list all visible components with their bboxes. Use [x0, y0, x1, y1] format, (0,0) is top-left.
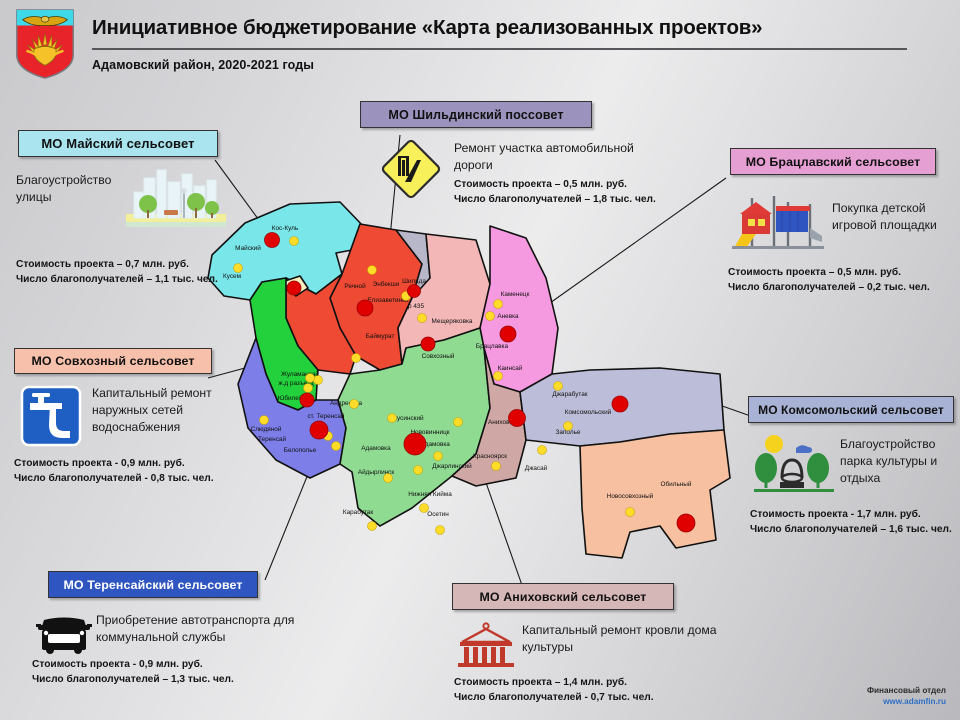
svg-text:Слюдяной: Слюдяной [251, 425, 282, 433]
project-cost: Стоимость проекта – 0,7 млн. руб. [16, 258, 248, 273]
project-cost: Стоимость проекта - 1,7 млн. руб. [750, 508, 921, 523]
callout-title-anikhovsky[interactable]: МО Аниховский сельсовет [452, 583, 674, 610]
callout-title-komsomolsky[interactable]: МО Комсомольский сельсовет [748, 396, 954, 423]
svg-text:Совхозный: Совхозный [422, 352, 455, 360]
page-header: Инициативное бюджетирование «Карта реали… [0, 0, 960, 92]
project-beneficiaries: Число благополучателей - 0,7 тыс. чел. [454, 691, 654, 706]
svg-text:Кос-Куль: Кос-Куль [272, 225, 299, 232]
project-beneficiaries: Число благополучателей – 1,3 тыс. чел. [32, 673, 234, 688]
page-subtitle: Адамовский район, 2020-2021 годы [92, 58, 314, 72]
svg-text:Брацлавка: Брацлавка [476, 343, 509, 350]
project-description: Ремонт участка автомобильной дороги [454, 140, 634, 174]
project-beneficiaries: Число благополучателей – 0,2 тыс. чел. [728, 281, 930, 296]
map-region-obilny [580, 430, 730, 558]
svg-text:Речной: Речной [344, 282, 366, 290]
callout-label: МО Шильдинский поссовет [388, 108, 563, 122]
svg-text:ст. Теренсай: ст. Теренсай [307, 412, 344, 420]
svg-text:Мещеряковка: Мещеряковка [432, 318, 473, 325]
project-beneficiaries: Число благополучателей – 1,6 тыс. чел. [750, 523, 952, 538]
project-description: Капитальный ремонт наружных сетей водосн… [92, 385, 227, 436]
project-beneficiaries: Число благополучателей – 1,1 тыс. чел. [16, 273, 248, 288]
project-cost: Стоимость проекта - 0,9 млн. руб. [32, 658, 203, 673]
project-cost: Стоимость проекта – 0,5 млн. руб. [728, 266, 901, 281]
svg-text:Обильный: Обильный [661, 480, 692, 488]
coat-of-arms-icon [14, 8, 76, 80]
callout-label: МО Совхозный сельсовет [32, 354, 195, 368]
water-tap-icon [20, 385, 82, 447]
road-repair-sign-icon [380, 138, 442, 200]
playground-icon [726, 188, 830, 256]
project-beneficiaries: Число благополучателей - 0,8 тыс. чел. [14, 472, 214, 487]
callout-label: МО Комсомольский сельсовет [758, 403, 944, 417]
svg-text:Джарлинский: Джарлинский [432, 462, 472, 470]
callout-label: МО Брацлавский сельсовет [746, 155, 921, 169]
project-description: Капитальный ремонт кровли дома культуры [522, 622, 722, 656]
svg-text:Энбекши: Энбекши [373, 280, 400, 288]
callout-label: МО Теренсайский сельсовет [64, 578, 243, 592]
callout-body-maysky: Благоустройство улицы Стоимость проекта … [16, 172, 248, 287]
svg-text:Адамовка: Адамовка [361, 445, 391, 452]
project-description: Благоустройство улицы [16, 172, 126, 206]
svg-text:Джарабутак: Джарабутак [552, 390, 587, 398]
svg-text:Нижняя Кийма: Нижняя Кийма [408, 490, 452, 498]
city-street-improvement-icon [126, 166, 226, 238]
footer-department: Финансовый отдел [867, 686, 946, 695]
svg-text:Белополье: Белополье [284, 447, 317, 454]
svg-text:Комсомольский: Комсомольский [565, 408, 612, 416]
svg-text:Красноярск: Красноярск [473, 453, 507, 460]
svg-text:Новосовхозный: Новосовхозный [607, 492, 654, 500]
house-of-culture-icon [456, 620, 516, 670]
project-cost: Стоимость проекта – 1,4 млн. руб. [454, 676, 627, 691]
title-divider [92, 48, 907, 50]
project-cost: Стоимость проекта – 0,5 млн. руб. [454, 178, 627, 193]
adamovsky-district-map: Кос-Куль Майский Кусем Речной Энбекши Ел… [190, 178, 750, 588]
project-description: Покупка детской игровой площадки [832, 200, 952, 234]
svg-text:Осетин: Осетин [427, 511, 449, 518]
callout-title-sovkhozny[interactable]: МО Совхозный сельсовет [14, 348, 212, 374]
svg-text:Каинсай: Каинсай [498, 364, 523, 372]
utility-truck-icon [36, 614, 92, 656]
page-title: Инициативное бюджетирование «Карта реали… [92, 16, 912, 40]
callout-title-bratslavsky[interactable]: МО Брацлавский сельсовет [730, 148, 936, 175]
footer-website[interactable]: www.adamfin.ru [883, 697, 946, 706]
callout-title-maysky[interactable]: МО Майский сельсовет [18, 130, 218, 157]
svg-text:р 435: р 435 [408, 303, 424, 310]
callout-title-shildinsky[interactable]: МО Шильдинский поссовет [360, 101, 592, 128]
svg-text:Баймурат: Баймурат [366, 332, 395, 340]
svg-text:Аневка: Аневка [497, 313, 519, 320]
callout-title-terensaysky[interactable]: МО Теренсайский сельсовет [48, 571, 258, 598]
callout-label: МО Аниховский сельсовет [480, 590, 647, 604]
infographic-canvas: Инициативное бюджетирование «Карта реали… [0, 0, 960, 720]
svg-text:Каменецк: Каменецк [501, 291, 530, 298]
project-description: Благоустройство парка культуры и отдыха [840, 436, 958, 487]
svg-text:Джасай: Джасай [525, 464, 548, 472]
project-beneficiaries: Число благополучателей – 1,8 тыс. чел. [454, 193, 656, 208]
project-description: Приобретение автотранспорта для коммунал… [96, 612, 296, 646]
park-fountain-icon [752, 432, 836, 498]
svg-text:Теренсай: Теренсай [258, 435, 286, 443]
svg-text:Карабутак: Карабутак [343, 508, 374, 516]
svg-text:Шильда: Шильда [402, 278, 426, 285]
project-cost: Стоимость проекта - 0,9 млн. руб. [14, 457, 185, 472]
callout-label: МО Майский сельсовет [41, 136, 194, 151]
